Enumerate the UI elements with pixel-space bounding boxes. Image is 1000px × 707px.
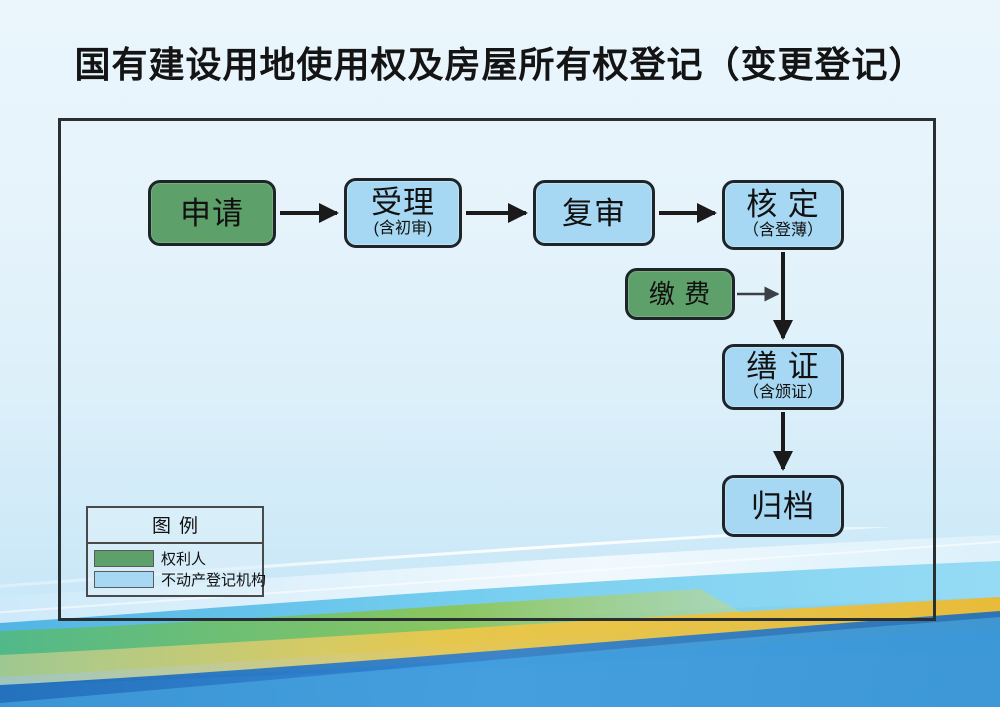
flow-node-issue-label: 缮 证	[746, 351, 820, 382]
poster-canvas: 国有建设用地使用权及房屋所有权登记（变更登记） 申请 受理 (含初审)	[0, 0, 1000, 707]
flow-node-issue-sublabel: （含颁证）	[743, 385, 823, 401]
flow-node-issue[interactable]: 缮 证 （含颁证）	[722, 344, 844, 410]
legend-box: 图例 权利人 不动产登记机构	[86, 506, 264, 597]
flow-node-approve-label: 核 定	[746, 189, 820, 220]
flow-node-archive-label: 归档	[751, 491, 815, 522]
legend-label-registration-agency: 不动产登记机构	[161, 569, 266, 590]
flow-node-archive[interactable]: 归档	[722, 475, 844, 537]
flow-node-approve[interactable]: 核 定 （含登薄）	[722, 180, 844, 250]
legend-item-registration-agency: 不动产登记机构	[94, 570, 256, 589]
flow-node-payment[interactable]: 缴 费	[625, 268, 735, 320]
flow-node-review-label: 复审	[562, 198, 626, 229]
flow-node-payment-label: 缴 费	[649, 281, 711, 307]
legend-rows: 权利人 不动产登记机构	[88, 544, 262, 595]
flow-node-review[interactable]: 复审	[533, 180, 655, 246]
legend-item-rights-holder: 权利人	[94, 549, 256, 568]
legend-title: 图例	[88, 508, 262, 544]
page-title: 国有建设用地使用权及房屋所有权登记（变更登记）	[0, 36, 1000, 88]
flow-node-accept-sublabel: (含初审)	[374, 221, 433, 237]
legend-swatch-green	[94, 550, 154, 567]
legend-label-rights-holder: 权利人	[161, 548, 206, 569]
legend-swatch-blue	[94, 571, 154, 588]
flow-node-accept[interactable]: 受理 (含初审)	[344, 178, 462, 248]
flow-node-apply[interactable]: 申请	[148, 180, 276, 246]
flow-node-approve-sublabel: （含登薄）	[743, 223, 823, 239]
flow-node-accept-label: 受理	[371, 187, 435, 218]
flow-node-apply-label: 申请	[180, 198, 244, 229]
